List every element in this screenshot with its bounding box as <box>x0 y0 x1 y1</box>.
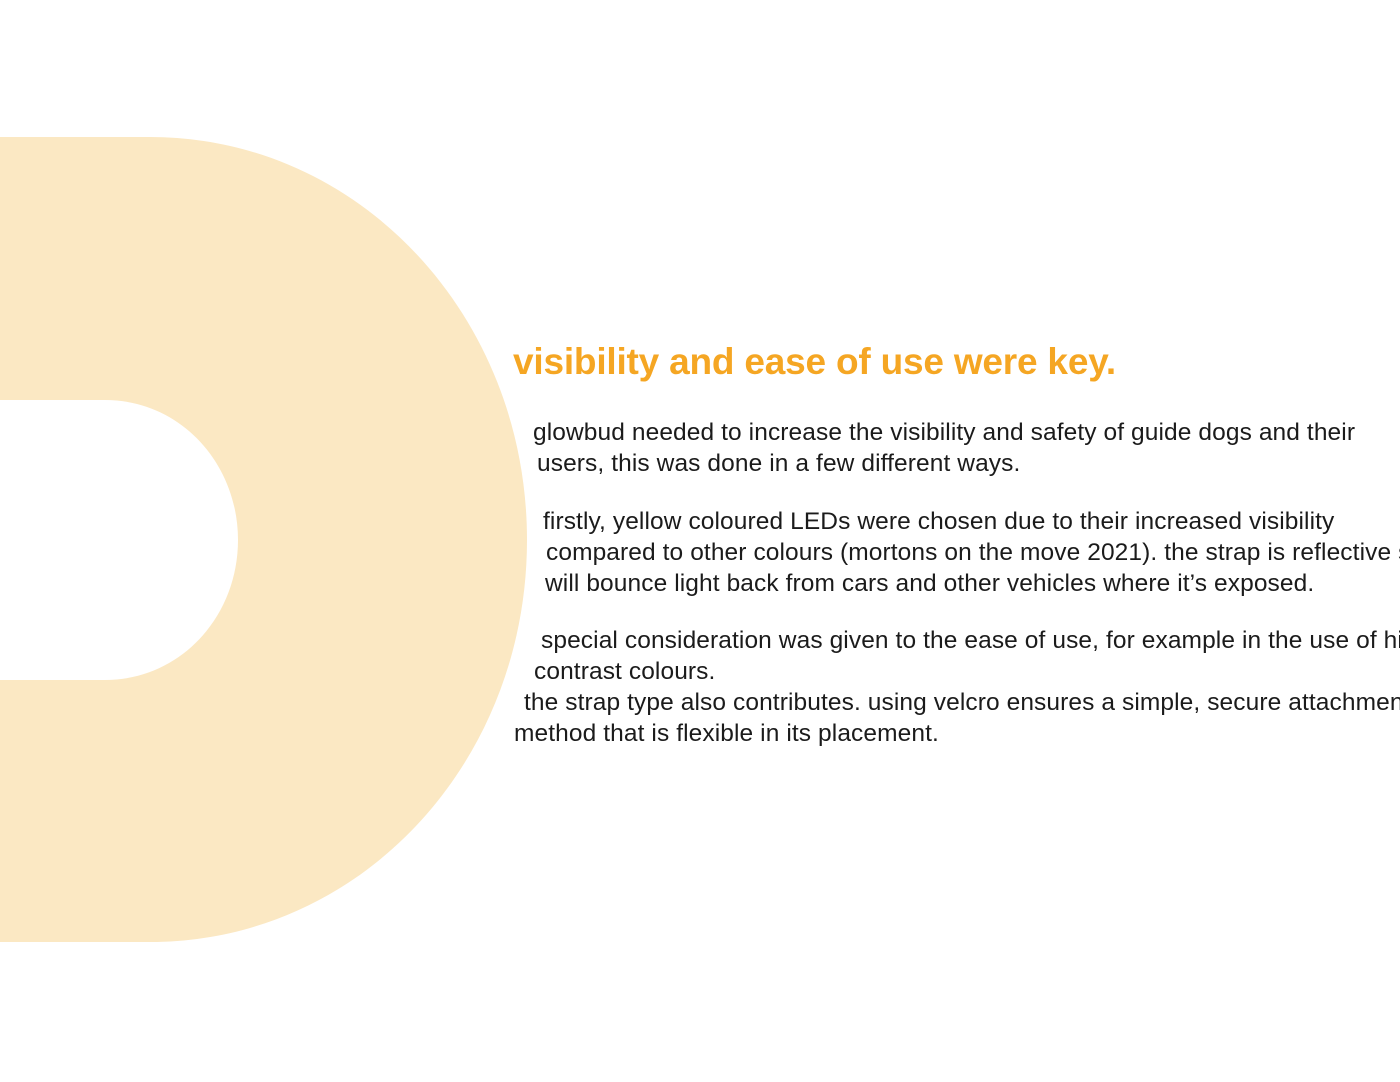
paragraph-2-line-3: will bounce light back from cars and oth… <box>543 568 1400 599</box>
paragraph-3: special consideration was given to the e… <box>541 625 1400 687</box>
slide-canvas: visibility and ease of use were key. glo… <box>0 0 1400 1082</box>
paragraph-3-line-1: special consideration was given to the e… <box>541 625 1400 656</box>
paragraph-2-line-1: firstly, yellow coloured LEDs were chose… <box>543 506 1400 537</box>
paragraph-2-line-2: compared to other colours (mortons on th… <box>543 537 1400 568</box>
page-title: visibility and ease of use were key. <box>513 341 1116 383</box>
paragraph-4: the strap type also contributes. using v… <box>524 687 1400 749</box>
paragraph-4-line-2: method that is flexible in its placement… <box>514 718 1400 749</box>
paragraph-3-line-2: contrast colours. <box>534 656 1400 687</box>
paragraph-4-line-1: the strap type also contributes. using v… <box>524 687 1400 718</box>
text-content: visibility and ease of use were key. glo… <box>0 0 1400 1082</box>
paragraph-2: firstly, yellow coloured LEDs were chose… <box>543 506 1400 599</box>
paragraph-1-line-1: glowbud needed to increase the visibilit… <box>533 417 1355 448</box>
paragraph-1-line-2: users, this was done in a few different … <box>533 448 1355 479</box>
paragraph-1: glowbud needed to increase the visibilit… <box>533 417 1355 479</box>
